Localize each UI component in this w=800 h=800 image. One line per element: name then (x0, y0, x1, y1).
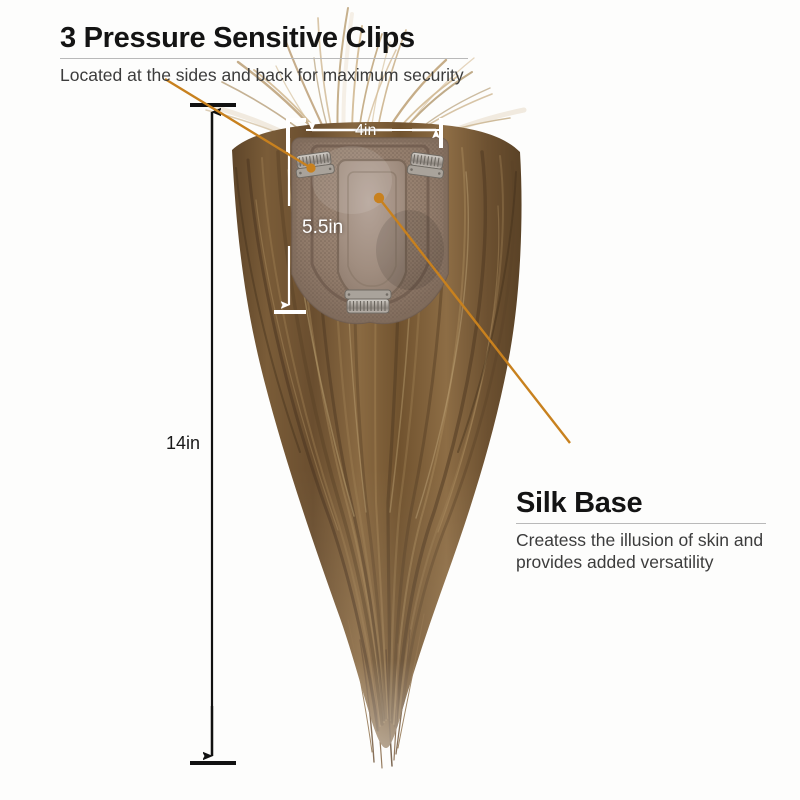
callout-silk-base: Silk Base Createss the illusion of skin … (516, 487, 784, 574)
callout-clips-divider (60, 58, 468, 59)
leader-line-clips (165, 79, 316, 173)
callout-silk-subtitle: Createss the illusion of skin and provid… (516, 529, 784, 574)
annotation-overlay (0, 0, 800, 800)
callout-clips-title: 3 Pressure Sensitive Clips (60, 22, 540, 55)
callout-pressure-clips: 3 Pressure Sensitive Clips Located at th… (60, 22, 540, 86)
dimension-label-width: 4in (355, 122, 376, 140)
leader-line-silk-base (374, 193, 570, 443)
dimension-label-base-height: 5.5in (302, 217, 343, 239)
callout-clips-subtitle: Located at the sides and back for maximu… (60, 64, 540, 86)
dimension-label-hair-length: 14in (166, 433, 200, 454)
product-infographic: 3 Pressure Sensitive Clips Located at th… (0, 0, 800, 800)
callout-silk-title: Silk Base (516, 487, 784, 520)
callout-silk-divider (516, 523, 766, 524)
